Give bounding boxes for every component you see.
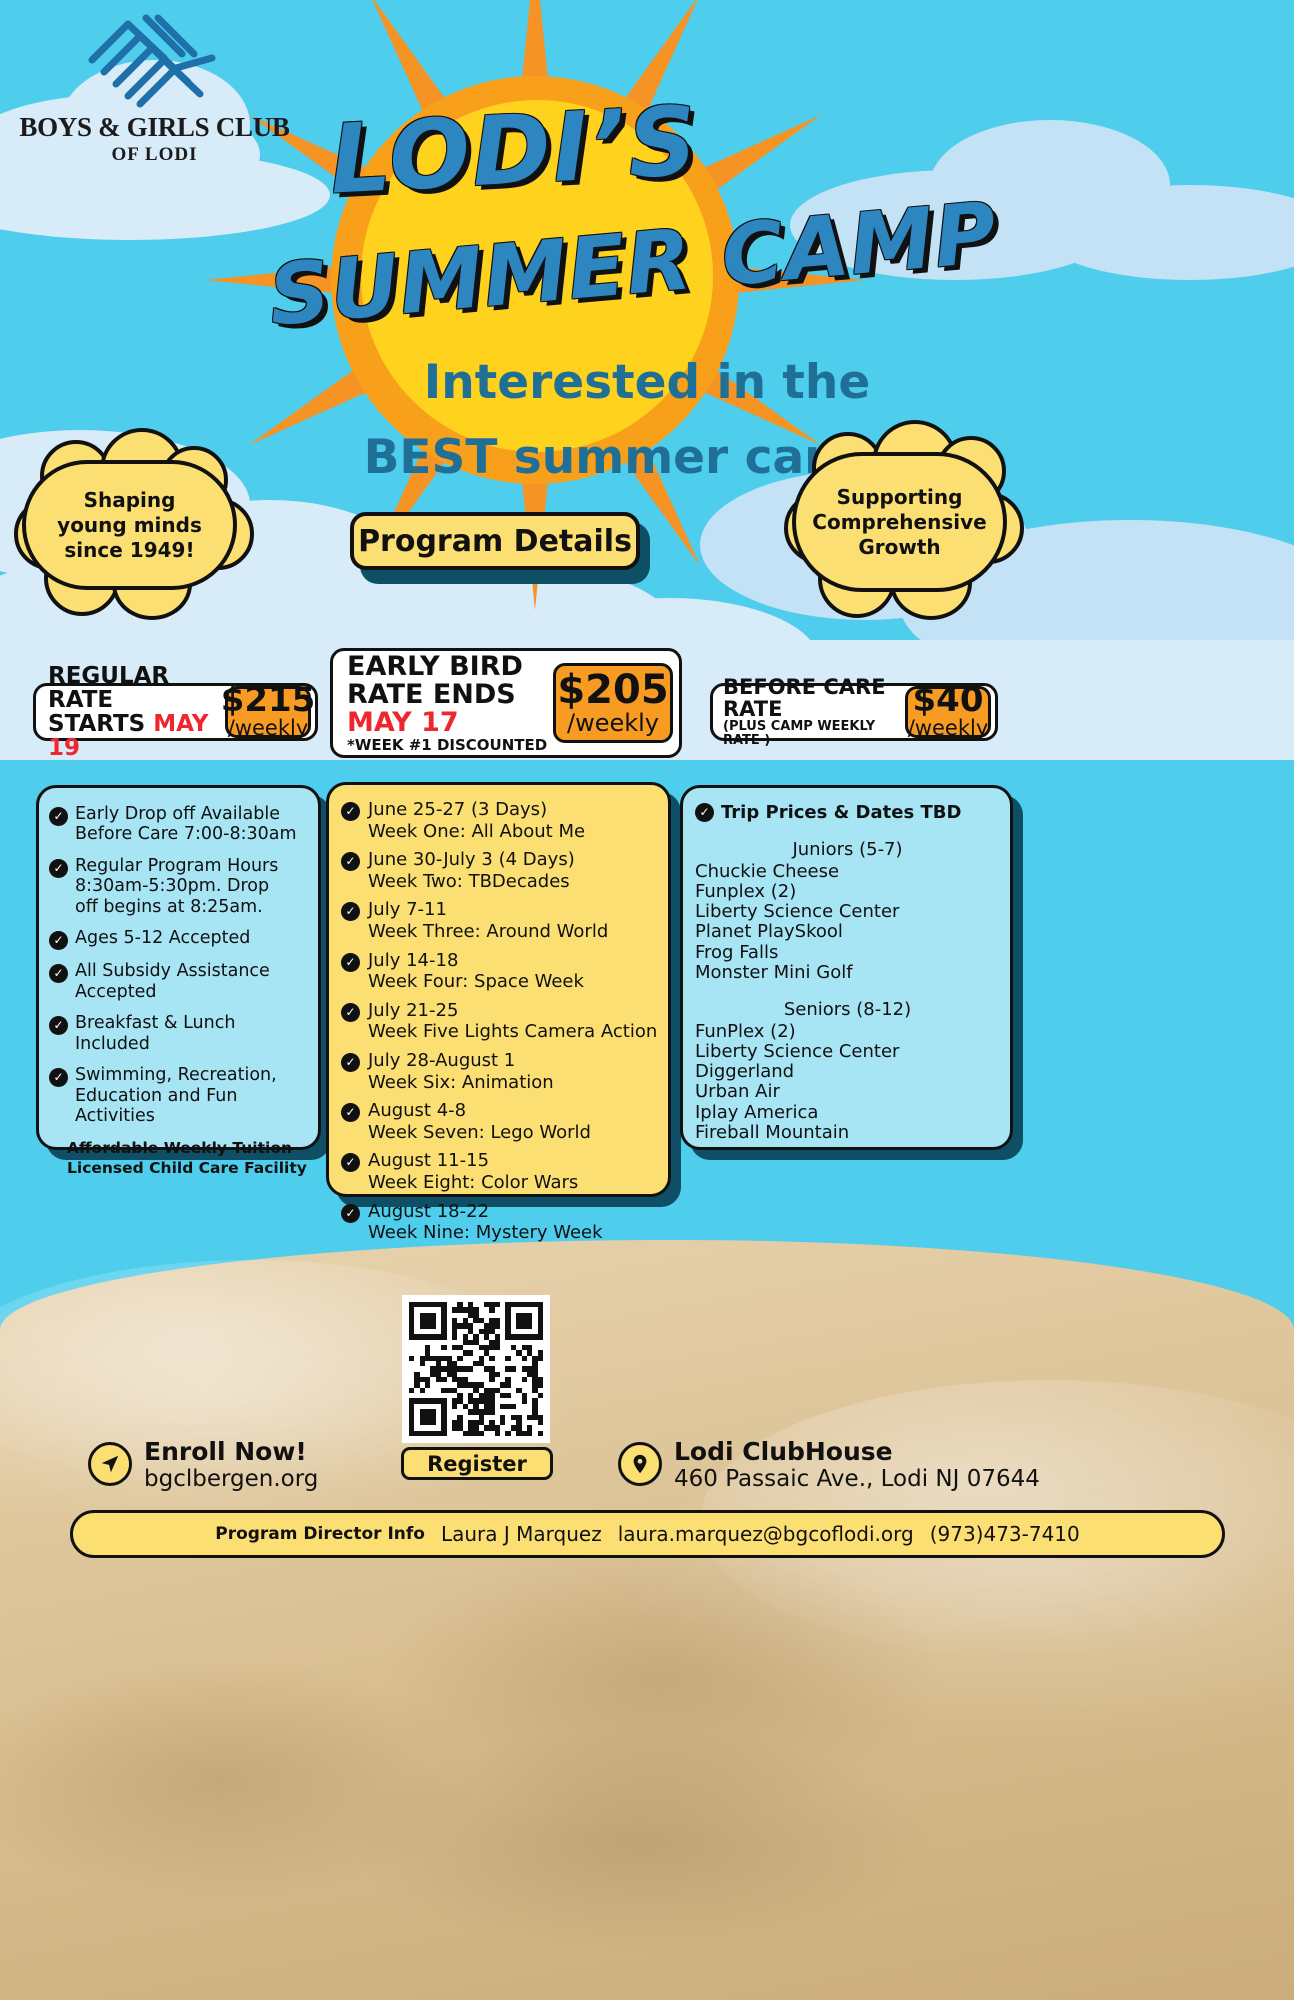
week-item: ✓August 11-15Week Eight: Color Wars <box>341 1150 658 1193</box>
sand-background <box>0 1240 1294 2000</box>
week-dates: June 30-July 3 (4 Days) <box>368 849 575 871</box>
location-title: Lodi ClubHouse <box>674 1438 1040 1466</box>
week-dates: July 28-August 1 <box>368 1050 554 1072</box>
before-care-line2: (PLUS CAMP WEEKLY RATE ) <box>723 720 905 747</box>
check-icon: ✓ <box>341 1003 360 1022</box>
check-icon: ✓ <box>341 902 360 921</box>
week-theme: Week Four: Space Week <box>368 971 584 993</box>
week-dates: August 18-22 <box>368 1201 603 1223</box>
check-icon: ✓ <box>49 807 68 826</box>
early-bird-date: MAY 17 <box>347 709 553 737</box>
early-bird-price: $205 /weekly <box>553 663 673 743</box>
regular-price-amount: $215 <box>221 683 316 717</box>
week-item: ✓July 7-11Week Three: Around World <box>341 899 658 942</box>
week-item: ✓June 25-27 (3 Days)Week One: All About … <box>341 799 658 842</box>
program-info-item-text: Early Drop off Available Before Care 7:0… <box>75 804 297 845</box>
before-care-rate-card: BEFORE CARE RATE (PLUS CAMP WEEKLY RATE … <box>710 683 998 741</box>
program-info-panel: ✓Early Drop off Available Before Care 7:… <box>36 785 321 1150</box>
title-line-1: LODI’S <box>327 86 701 215</box>
program-info-item: ✓Early Drop off Available Before Care 7:… <box>49 804 308 845</box>
before-care-price-amount: $40 <box>913 683 984 717</box>
check-icon: ✓ <box>341 1153 360 1172</box>
regular-rate-price: $215 /weekly <box>225 686 311 738</box>
trip-item: Liberty Science Center <box>695 902 1000 922</box>
brand-sub: OF LODI <box>12 144 297 166</box>
subheadline-1: Interested in the <box>0 355 1294 410</box>
program-info-item: ✓All Subsidy Assistance Accepted <box>49 961 308 1002</box>
before-care-line1: BEFORE CARE RATE <box>723 676 905 720</box>
tagline-bubble-right: Supporting Comprehensive Growth <box>792 452 1007 592</box>
map-pin-icon <box>618 1442 662 1486</box>
director-info-bar: Program Director Info Laura J Marquez la… <box>70 1510 1225 1558</box>
trip-item: Frog Falls <box>695 943 1000 963</box>
regular-rate-card: REGULAR RATE STARTS MAY 19 $215 /weekly <box>33 683 318 741</box>
trip-item: Monster Mini Golf <box>695 963 1000 983</box>
trip-item: FunPlex (2) <box>695 1022 1000 1042</box>
enroll-title: Enroll Now! <box>144 1438 318 1466</box>
poster: BOYS & GIRLS CLUB OF LODI LODI’S SUMMER … <box>0 0 1294 2000</box>
early-bird-line1: EARLY BIRD <box>347 653 553 681</box>
trips-heading-text: Trip Prices & Dates TBD <box>721 802 961 823</box>
enroll-url[interactable]: bgclbergen.org <box>144 1466 318 1492</box>
week-item: ✓August 18-22Week Nine: Mystery Week <box>341 1201 658 1244</box>
week-theme: Week Two: TBDecades <box>368 871 575 893</box>
trip-item: Urban Air <box>695 1082 1000 1102</box>
week-theme: Week Eight: Color Wars <box>368 1172 578 1194</box>
check-icon: ✓ <box>341 802 360 821</box>
check-icon: ✓ <box>49 931 68 950</box>
check-icon: ✓ <box>49 1068 68 1087</box>
week-dates: July 7-11 <box>368 899 608 921</box>
trips-list: Juniors (5-7)Chuckie CheeseFunplex (2)Li… <box>695 839 1000 1143</box>
handshake-icon <box>84 8 224 108</box>
trip-item: Diggerland <box>695 1062 1000 1082</box>
trip-group-gap <box>695 983 1000 999</box>
check-icon: ✓ <box>49 859 68 878</box>
trip-group-title: Seniors (8-12) <box>695 999 1000 1020</box>
director-name: Laura J Marquez <box>441 1522 602 1546</box>
week-item: ✓June 30-July 3 (4 Days)Week Two: TBDeca… <box>341 849 658 892</box>
check-icon: ✓ <box>341 1053 360 1072</box>
trip-item: Fireball Mountain <box>695 1123 1000 1143</box>
trip-item: Planet PlaySkool <box>695 922 1000 942</box>
program-info-item-text: Swimming, Recreation, Education and Fun … <box>75 1065 308 1126</box>
regular-price-period: /weekly <box>228 717 309 740</box>
tagline-right-text: Supporting Comprehensive Growth <box>812 485 986 560</box>
trip-item: Funplex (2) <box>695 882 1000 902</box>
program-info-item-text: Ages 5-12 Accepted <box>75 928 250 948</box>
before-care-price-period: /weekly <box>908 717 989 740</box>
week-dates: July 21-25 <box>368 1000 657 1022</box>
brand-logo: BOYS & GIRLS CLUB OF LODI <box>12 8 297 168</box>
program-info-item: ✓Breakfast & Lunch Included <box>49 1013 308 1054</box>
tagline-left-text: Shaping young minds since 1949! <box>57 488 202 563</box>
check-icon: ✓ <box>49 964 68 983</box>
trip-item: Chuckie Cheese <box>695 862 1000 882</box>
program-info-item-text: All Subsidy Assistance Accepted <box>75 961 270 1002</box>
check-icon: ✓ <box>341 1204 360 1223</box>
program-info-item: ✓Swimming, Recreation, Education and Fun… <box>49 1065 308 1126</box>
week-dates: July 14-18 <box>368 950 584 972</box>
week-theme: Week One: All About Me <box>368 821 585 843</box>
week-theme: Week Five Lights Camera Action <box>368 1021 657 1043</box>
week-item: ✓August 4-8Week Seven: Lego World <box>341 1100 658 1143</box>
early-bird-line2: RATE ENDS <box>347 681 553 709</box>
early-bird-price-amount: $205 <box>557 670 668 710</box>
trips-heading: ✓ Trip Prices & Dates TBD <box>695 802 1000 823</box>
register-button[interactable]: Register <box>401 1447 553 1480</box>
navigation-arrow-icon <box>88 1442 132 1486</box>
location-block: Lodi ClubHouse 460 Passaic Ave., Lodi NJ… <box>618 1438 1040 1492</box>
week-theme: Week Six: Animation <box>368 1072 554 1094</box>
week-dates: August 4-8 <box>368 1100 591 1122</box>
week-item: ✓July 28-August 1Week Six: Animation <box>341 1050 658 1093</box>
weekly-themes-panel: ✓June 25-27 (3 Days)Week One: All About … <box>326 782 671 1197</box>
tagline-bubble-left: Shaping young minds since 1949! <box>22 460 237 590</box>
enroll-block: Enroll Now! bgclbergen.org <box>88 1438 318 1492</box>
week-dates: August 11-15 <box>368 1150 578 1172</box>
early-bird-price-period: /weekly <box>567 710 659 736</box>
director-label: Program Director Info <box>215 1524 425 1544</box>
qr-code[interactable] <box>402 1295 550 1443</box>
program-info-item-text: Breakfast & Lunch Included <box>75 1013 235 1054</box>
trips-panel: ✓ Trip Prices & Dates TBD Juniors (5-7)C… <box>680 785 1013 1150</box>
week-theme: Week Seven: Lego World <box>368 1122 591 1144</box>
week-theme: Week Three: Around World <box>368 921 608 943</box>
program-details-button[interactable]: Program Details <box>350 512 640 570</box>
director-email[interactable]: laura.marquez@bgcoflodi.org <box>618 1522 914 1546</box>
week-item: ✓July 21-25Week Five Lights Camera Actio… <box>341 1000 658 1043</box>
check-icon: ✓ <box>341 953 360 972</box>
check-icon: ✓ <box>695 803 714 822</box>
check-icon: ✓ <box>341 852 360 871</box>
program-info-item: ✓Ages 5-12 Accepted <box>49 928 308 950</box>
program-info-note: Affordable Weekly Tuition Licensed Child… <box>67 1138 308 1178</box>
program-info-item-text: Regular Program Hours 8:30am-5:30pm. Dro… <box>75 856 278 917</box>
location-address: 460 Passaic Ave., Lodi NJ 07644 <box>674 1466 1040 1492</box>
program-info-item: ✓Regular Program Hours 8:30am-5:30pm. Dr… <box>49 856 308 917</box>
week-item: ✓July 14-18Week Four: Space Week <box>341 950 658 993</box>
trip-group-title: Juniors (5-7) <box>695 839 1000 860</box>
brand-name: BOYS & GIRLS CLUB <box>12 112 297 143</box>
trip-item: Iplay America <box>695 1103 1000 1123</box>
weekly-themes-list: ✓June 25-27 (3 Days)Week One: All About … <box>341 799 658 1244</box>
regular-rate-line1: REGULAR RATE <box>48 664 225 712</box>
regular-rate-line2: STARTS <box>48 711 153 737</box>
week-dates: June 25-27 (3 Days) <box>368 799 585 821</box>
before-care-price: $40 /weekly <box>905 686 991 738</box>
check-icon: ✓ <box>49 1016 68 1035</box>
director-phone[interactable]: (973)473-7410 <box>930 1522 1080 1546</box>
early-bird-rate-card: EARLY BIRD RATE ENDS MAY 17 *WEEK #1 DIS… <box>330 648 682 758</box>
trip-item: Liberty Science Center <box>695 1042 1000 1062</box>
check-icon: ✓ <box>341 1103 360 1122</box>
early-bird-note: *WEEK #1 DISCOUNTED <box>347 738 553 754</box>
program-info-list: ✓Early Drop off Available Before Care 7:… <box>49 804 308 1127</box>
